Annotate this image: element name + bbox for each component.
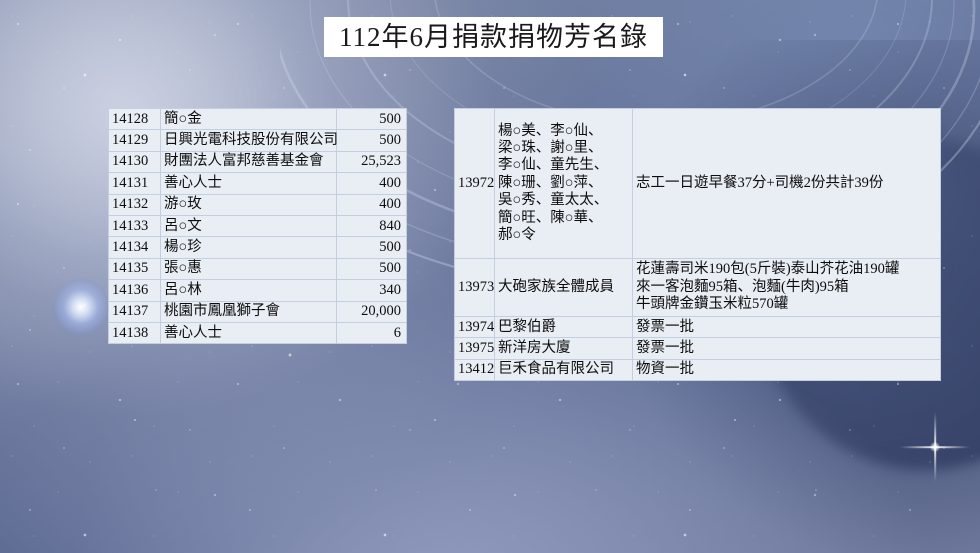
donor-name: 巴黎伯爵 <box>495 317 633 338</box>
donor-name-line: 吳○秀、童太太、 <box>498 192 629 209</box>
right-table-body: 13972 楊○美、李○仙、 梁○珠、謝○里、 李○仙、童先生、 陳○珊、劉○萍… <box>455 109 941 381</box>
donation-description-line: 花蓮壽司米190包(5斤裝)泰山芥花油190罐 <box>636 261 937 278</box>
donor-name-line: 楊○美、李○仙、 <box>498 123 629 140</box>
donor-name: 楊○美、李○仙、 梁○珠、謝○里、 李○仙、童先生、 陳○珊、劉○萍、 吳○秀、… <box>495 109 633 259</box>
donor-amount: 400 <box>337 194 407 215</box>
donor-name: 善心人士 <box>161 173 337 194</box>
donor-amount: 6 <box>337 322 407 343</box>
table-row: 13974 巴黎伯爵 發票一批 <box>455 317 941 338</box>
table-row: 14130 財團法人富邦慈善基金會 25,523 <box>109 151 407 172</box>
donor-name: 日興光電科技股份有限公司 <box>161 130 337 151</box>
donor-amount: 500 <box>337 237 407 258</box>
donor-name: 巨禾食品有限公司 <box>495 359 633 380</box>
donor-amount: 400 <box>337 173 407 194</box>
donor-name: 游○玫 <box>161 194 337 215</box>
donor-id: 14137 <box>109 301 161 322</box>
donor-id: 14138 <box>109 322 161 343</box>
donor-name-line: 巴黎伯爵 <box>498 319 629 336</box>
table-row: 14133 呂○文 840 <box>109 215 407 236</box>
donation-description-line: 發票一批 <box>636 319 937 336</box>
table-row: 14128 簡○金 500 <box>109 109 407 130</box>
table-row: 14137 桃園市鳳凰獅子會 20,000 <box>109 301 407 322</box>
donation-table-right: 13972 楊○美、李○仙、 梁○珠、謝○里、 李○仙、童先生、 陳○珊、劉○萍… <box>454 108 941 381</box>
slide-canvas: 112年6月捐款捐物芳名錄 14128 簡○金 500 14129 日興光電科技… <box>0 0 980 553</box>
page-title: 112年6月捐款捐物芳名錄 <box>339 24 648 51</box>
donation-description: 花蓮壽司米190包(5斤裝)泰山芥花油190罐 來一客泡麵95箱、泡麵(牛肉)9… <box>633 259 941 317</box>
table-row: 13412 巨禾食品有限公司 物資一批 <box>455 359 941 380</box>
donor-name: 財團法人富邦慈善基金會 <box>161 151 337 172</box>
donation-description-line: 來一客泡麵95箱、泡麵(牛肉)95箱 <box>636 279 937 296</box>
sparkle-star-icon <box>900 412 970 482</box>
donor-id: 13412 <box>455 359 495 380</box>
donor-amount: 25,523 <box>337 151 407 172</box>
table-row: 14129 日興光電科技股份有限公司 500 <box>109 130 407 151</box>
donor-name: 簡○金 <box>161 109 337 130</box>
table-row: 14131 善心人士 400 <box>109 173 407 194</box>
donor-id: 14131 <box>109 173 161 194</box>
table-row: 13973 大砲家族全體成員 花蓮壽司米190包(5斤裝)泰山芥花油190罐 來… <box>455 259 941 317</box>
donor-id: 14129 <box>109 130 161 151</box>
donor-amount: 500 <box>337 258 407 279</box>
donor-name-line: 梁○珠、謝○里、 <box>498 140 629 157</box>
donor-name: 桃園市鳳凰獅子會 <box>161 301 337 322</box>
title-panel: 112年6月捐款捐物芳名錄 <box>324 17 663 57</box>
donor-name-line: 郝○令 <box>498 227 629 244</box>
donor-name-line: 大砲家族全體成員 <box>498 279 629 296</box>
donation-description-line: 牛頭牌金鑽玉米粒570罐 <box>636 296 937 313</box>
table-row: 13972 楊○美、李○仙、 梁○珠、謝○里、 李○仙、童先生、 陳○珊、劉○萍… <box>455 109 941 259</box>
donation-description: 物資一批 <box>633 359 941 380</box>
donation-description: 發票一批 <box>633 317 941 338</box>
donor-id: 13975 <box>455 338 495 359</box>
glowing-star <box>52 278 110 336</box>
donation-table-left: 14128 簡○金 500 14129 日興光電科技股份有限公司 500 141… <box>108 108 407 344</box>
table-row: 13975 新洋房大廈 發票一批 <box>455 338 941 359</box>
donor-amount: 20,000 <box>337 301 407 322</box>
donor-amount: 500 <box>337 109 407 130</box>
donor-id: 14136 <box>109 280 161 301</box>
donation-description: 發票一批 <box>633 338 941 359</box>
table-row: 14132 游○玫 400 <box>109 194 407 215</box>
donor-id: 14133 <box>109 215 161 236</box>
donor-name: 呂○林 <box>161 280 337 301</box>
donation-description-line: 物資一批 <box>636 361 937 378</box>
donor-name: 新洋房大廈 <box>495 338 633 359</box>
donor-name: 大砲家族全體成員 <box>495 259 633 317</box>
table-row: 14134 楊○珍 500 <box>109 237 407 258</box>
table-row: 14136 呂○林 340 <box>109 280 407 301</box>
donor-id: 14132 <box>109 194 161 215</box>
left-table-body: 14128 簡○金 500 14129 日興光電科技股份有限公司 500 141… <box>109 109 407 344</box>
donor-name: 楊○珍 <box>161 237 337 258</box>
donor-name-line: 陳○珊、劉○萍、 <box>498 175 629 192</box>
sparkle-core <box>930 442 940 452</box>
table-row: 14135 張○惠 500 <box>109 258 407 279</box>
donor-amount: 500 <box>337 130 407 151</box>
donor-name-line: 巨禾食品有限公司 <box>498 361 629 378</box>
donor-id: 14128 <box>109 109 161 130</box>
donor-name-line: 簡○旺、陳○華、 <box>498 210 629 227</box>
table-row: 14138 善心人士 6 <box>109 322 407 343</box>
donation-description: 志工一日遊早餐37分+司機2份共計39份 <box>633 109 941 259</box>
donor-id: 13973 <box>455 259 495 317</box>
donor-name: 張○惠 <box>161 258 337 279</box>
donor-id: 14134 <box>109 237 161 258</box>
donor-id: 14135 <box>109 258 161 279</box>
donor-name: 善心人士 <box>161 322 337 343</box>
donor-id: 14130 <box>109 151 161 172</box>
donor-name-line: 新洋房大廈 <box>498 340 629 357</box>
donor-id: 13974 <box>455 317 495 338</box>
donor-amount: 840 <box>337 215 407 236</box>
donor-name-line: 李○仙、童先生、 <box>498 157 629 174</box>
donor-amount: 340 <box>337 280 407 301</box>
donor-id: 13972 <box>455 109 495 259</box>
donation-description-line: 志工一日遊早餐37分+司機2份共計39份 <box>636 175 937 192</box>
donation-description-line: 發票一批 <box>636 340 937 357</box>
donor-name: 呂○文 <box>161 215 337 236</box>
